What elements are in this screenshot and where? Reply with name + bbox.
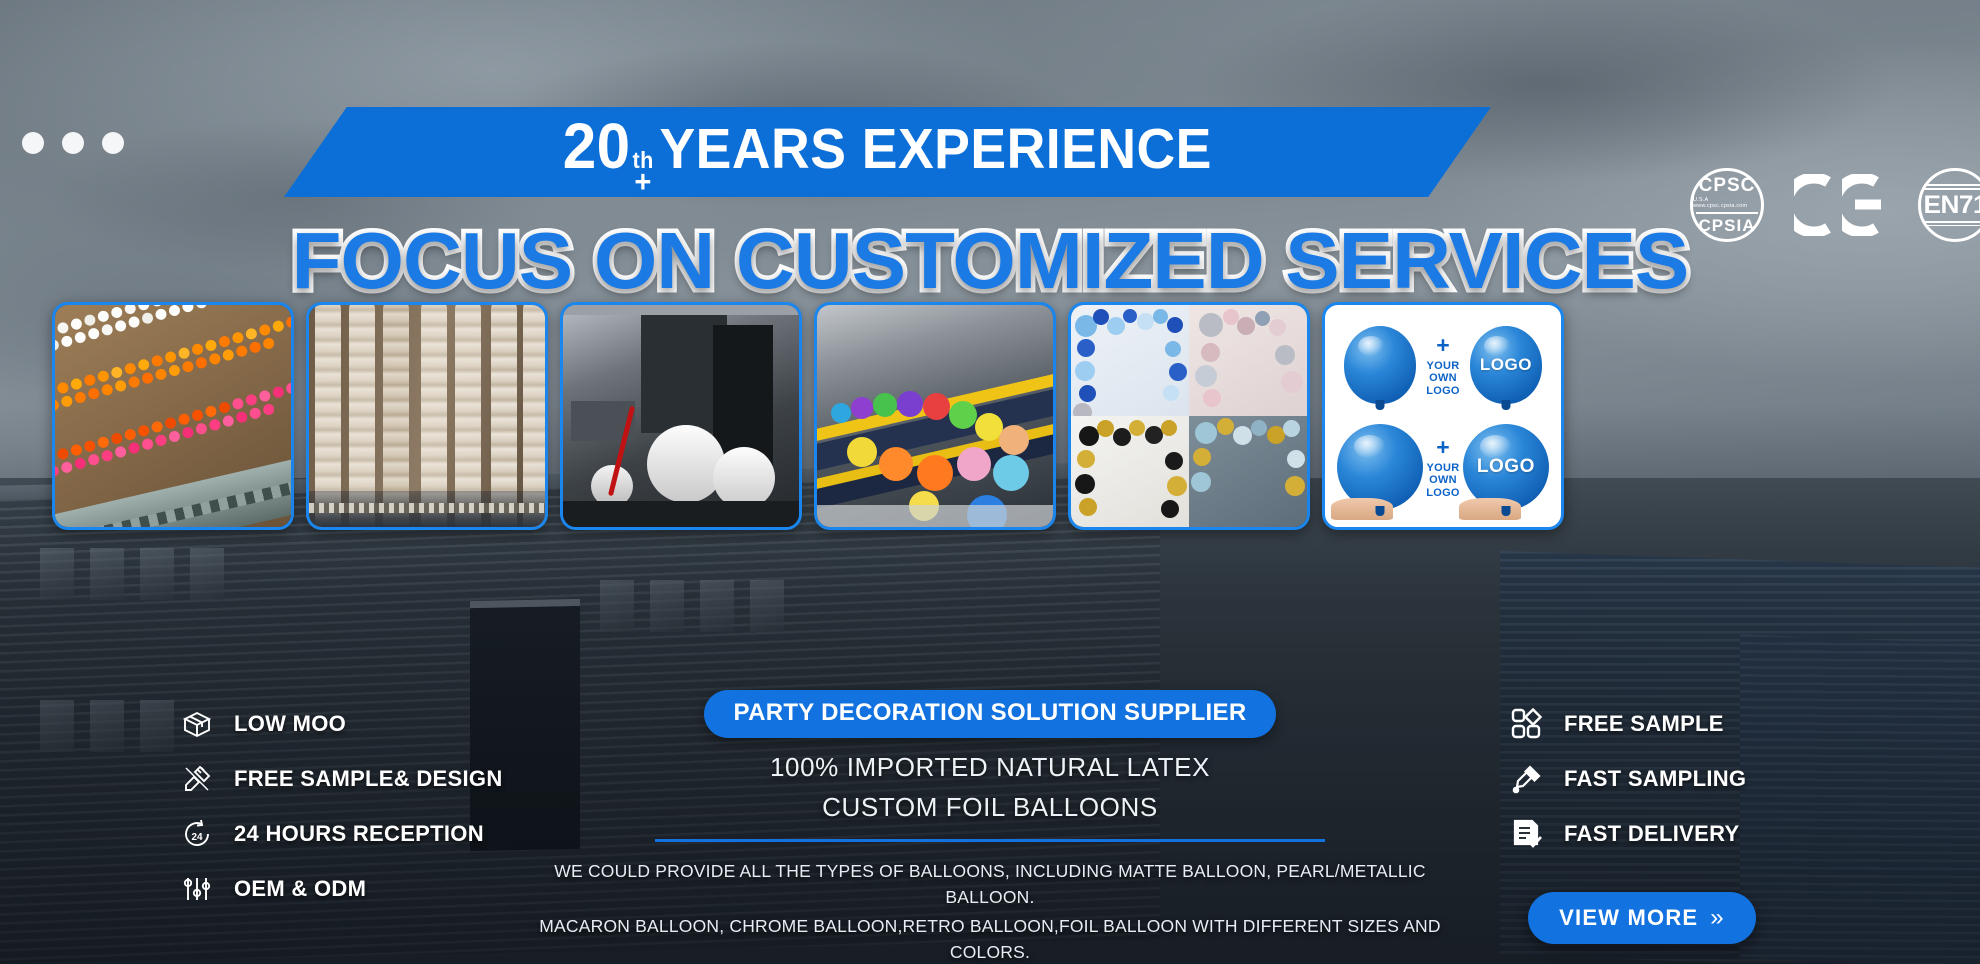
balloon-logo-text-bottom: LOGO xyxy=(1477,456,1535,478)
dot-2 xyxy=(62,132,84,154)
supplier-pill: PARTY DECORATION SOLUTION SUPPLIER xyxy=(704,690,1277,738)
feature-free-sample[interactable]: FREE SAMPLE xyxy=(1510,700,1746,747)
your-own-logo-label-bottom: + YOUR OWN LOGO xyxy=(1426,435,1460,499)
document-check-icon xyxy=(1510,817,1544,851)
balloon-logo-text-top: LOGO xyxy=(1480,355,1532,375)
dot-1 xyxy=(22,132,44,154)
plain-balloon-top xyxy=(1344,326,1416,404)
chevron-right-icon: » xyxy=(1710,904,1725,932)
thumbnail-drying-strands[interactable] xyxy=(306,302,548,530)
years-number: 20 xyxy=(563,109,631,183)
product-thumbnail-strip: + YOUR OWN LOGO LOGO + YOUR OWN LOGO xyxy=(52,302,1564,530)
your-own-logo-label-top: + YOUR OWN LOGO xyxy=(1426,333,1460,397)
own-label-bottom: OWN xyxy=(1426,474,1460,486)
plus-sign: + xyxy=(635,169,652,195)
description-line-1: WE COULD PROVIDE ALL THE TYPES OF BALLOO… xyxy=(530,858,1450,911)
feature-free-sample-design[interactable]: FREE SAMPLE& DESIGN xyxy=(180,755,503,802)
view-more-label: VIEW MORE xyxy=(1559,905,1698,931)
clock-24-icon: 24 xyxy=(180,817,214,851)
feature-fast-delivery[interactable]: FAST DELIVERY xyxy=(1510,810,1746,857)
plus-symbol-top: + xyxy=(1426,333,1460,359)
feature-label: FAST SAMPLING xyxy=(1564,766,1746,792)
thumbnail-decoration-gallery[interactable] xyxy=(1068,302,1310,530)
svg-text:24: 24 xyxy=(191,832,203,843)
dot-3 xyxy=(102,132,124,154)
features-left-list: LOW MOO FREE SAMPLE& DESIGN 24 24 HOURS … xyxy=(180,700,503,920)
feature-24-hours-reception[interactable]: 24 24 HOURS RECEPTION xyxy=(180,810,503,857)
page-title: FOCUS ON CUSTOMIZED SERVICES xyxy=(0,215,1980,307)
cpsc-url: U.S.A www.cpsc.cpsia.com xyxy=(1693,197,1761,209)
feature-label: OEM & ODM xyxy=(234,876,366,902)
feature-label: FREE SAMPLE& DESIGN xyxy=(234,766,503,792)
center-divider xyxy=(655,839,1325,842)
feature-low-moo[interactable]: LOW MOO xyxy=(180,700,503,747)
thumbnail-latex-dipping-line[interactable] xyxy=(52,302,294,530)
ribbon-text: 20 th + YEARS EXPERIENCE xyxy=(563,109,1212,195)
center-content: PARTY DECORATION SOLUTION SUPPLIER 100% … xyxy=(530,690,1450,964)
pencil-ruler-icon xyxy=(180,762,214,796)
ribbon-label: YEARS EXPERIENCE xyxy=(660,116,1212,182)
center-line-latex: 100% IMPORTED NATURAL LATEX xyxy=(530,752,1450,783)
logo-balloon-bottom: LOGO xyxy=(1463,424,1549,510)
your-label-top: YOUR xyxy=(1426,360,1460,372)
box-icon xyxy=(180,707,214,741)
features-right-list: FREE SAMPLE FAST SAMPLING FAST DELIVERY xyxy=(1510,700,1746,865)
feature-label: 24 HOURS RECEPTION xyxy=(234,821,484,847)
thumbnail-custom-logo-balloons[interactable]: + YOUR OWN LOGO LOGO + YOUR OWN LOGO xyxy=(1322,302,1564,530)
plain-balloon-bottom xyxy=(1337,424,1423,510)
cpsc-divider xyxy=(1696,212,1758,214)
feature-fast-sampling[interactable]: FAST SAMPLING xyxy=(1510,755,1746,802)
feature-label: FAST DELIVERY xyxy=(1564,821,1739,847)
feature-oem-odm[interactable]: OEM & ODM xyxy=(180,865,503,912)
description-line-2: MACARON BALLOON, CHROME BALLOON,RETRO BA… xyxy=(530,913,1450,964)
cpsc-label: CPSC xyxy=(1699,176,1756,195)
your-label-bottom: YOUR xyxy=(1426,462,1460,474)
grid-shapes-icon xyxy=(1510,707,1544,741)
thumbnail-printing-press[interactable] xyxy=(560,302,802,530)
dropper-icon xyxy=(1510,762,1544,796)
plus-symbol-bottom: + xyxy=(1426,435,1460,461)
center-line-foil: CUSTOM FOIL BALLOONS xyxy=(530,792,1450,823)
view-more-button[interactable]: VIEW MORE » xyxy=(1528,892,1756,944)
logo-label-top: LOGO xyxy=(1426,385,1460,397)
settings-sliders-icon xyxy=(180,872,214,906)
own-label-top: OWN xyxy=(1426,372,1460,384)
decorative-dots xyxy=(22,132,124,154)
years-experience-ribbon: 20 th + YEARS EXPERIENCE xyxy=(284,107,1491,197)
logo-label-bottom: LOGO xyxy=(1426,487,1460,499)
feature-label: FREE SAMPLE xyxy=(1564,711,1724,737)
feature-label: LOW MOO xyxy=(234,711,346,737)
logo-balloon-top: LOGO xyxy=(1470,326,1542,404)
ordinal-plus-stack: th + xyxy=(633,151,654,195)
thumbnail-balloon-conveyor[interactable] xyxy=(814,302,1056,530)
